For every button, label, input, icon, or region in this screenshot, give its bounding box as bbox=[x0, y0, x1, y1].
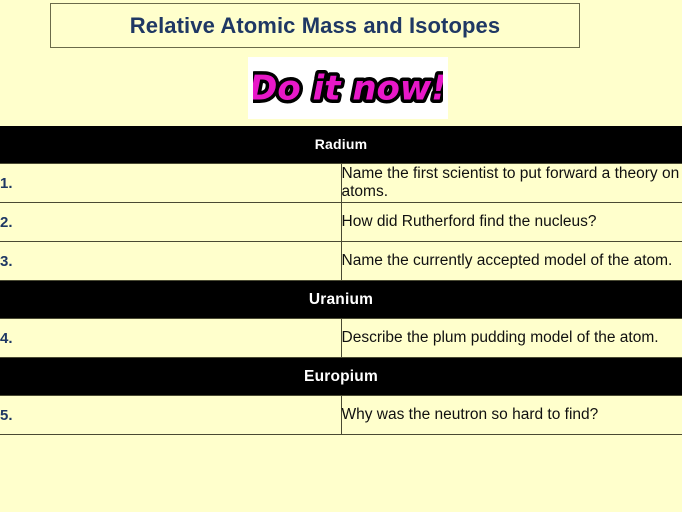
question-number: 1. bbox=[0, 164, 341, 203]
question-number: 4. bbox=[0, 319, 341, 358]
do-it-now-question-table: Radium1.Name the first scientist to put … bbox=[0, 126, 682, 435]
question-text: Name the first scientist to put forward … bbox=[341, 164, 682, 203]
question-text: How did Rutherford find the nucleus? bbox=[341, 203, 682, 242]
page-title: Relative Atomic Mass and Isotopes bbox=[130, 13, 500, 39]
section-header-row: Europium bbox=[0, 358, 682, 396]
section-header-label: Radium bbox=[315, 136, 368, 152]
table-row: 5.Why was the neutron so hard to find? bbox=[0, 396, 682, 435]
section-header-label: Europium bbox=[304, 368, 378, 385]
question-text: Name the currently accepted model of the… bbox=[341, 242, 682, 281]
question-number: 2. bbox=[0, 203, 341, 242]
section-header-label: Uranium bbox=[309, 291, 373, 308]
section-header-cell: Uranium bbox=[0, 281, 682, 319]
table-row: 3.Name the currently accepted model of t… bbox=[0, 242, 682, 281]
section-header-row: Uranium bbox=[0, 281, 682, 319]
table-row: 2.How did Rutherford find the nucleus? bbox=[0, 203, 682, 242]
question-text: Why was the neutron so hard to find? bbox=[341, 396, 682, 435]
section-header-cell: Radium bbox=[0, 126, 682, 164]
svg-text:Do it now!: Do it now! bbox=[253, 69, 443, 109]
table-row: 1.Name the first scientist to put forwar… bbox=[0, 164, 682, 203]
question-text: Describe the plum pudding model of the a… bbox=[341, 319, 682, 358]
section-header-cell: Europium bbox=[0, 358, 682, 396]
question-number: 5. bbox=[0, 396, 341, 435]
question-number: 3. bbox=[0, 242, 341, 281]
table-row: 4.Describe the plum pudding model of the… bbox=[0, 319, 682, 358]
slide-title-box: Relative Atomic Mass and Isotopes bbox=[50, 3, 580, 48]
do-it-now-sticker-icon: Do it now! Do it now! Do it now! bbox=[248, 57, 448, 119]
section-header-row: Radium bbox=[0, 126, 682, 164]
